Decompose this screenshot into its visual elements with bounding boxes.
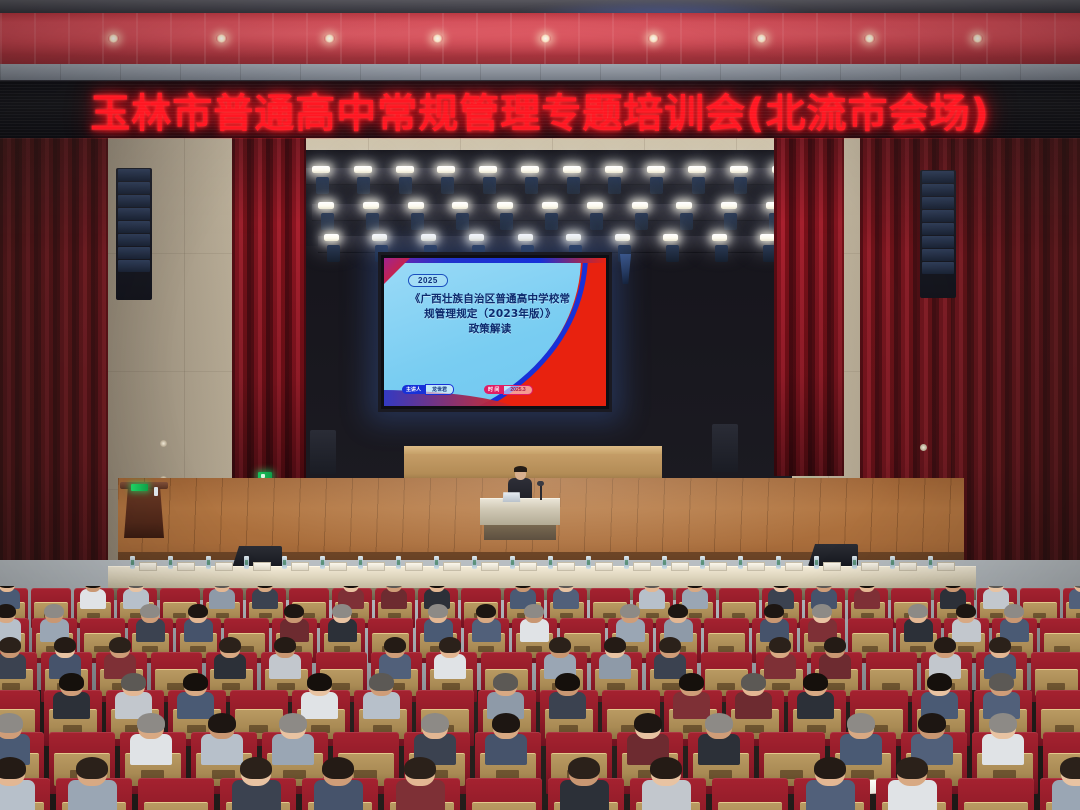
- audience-member-hair: [934, 637, 956, 653]
- seat-number-plate: [772, 683, 789, 690]
- audience-member-hair: [492, 713, 520, 733]
- audience-member-hair: [896, 757, 928, 779]
- audience-member-hair: [428, 604, 448, 618]
- seat-back: [964, 802, 1028, 810]
- line-array-speaker-left: [116, 168, 152, 300]
- stage-lamp: [712, 234, 727, 241]
- seat-number-plate: [827, 683, 844, 690]
- stage-lamp: [421, 234, 436, 241]
- seat-back: [718, 802, 782, 810]
- audience-member-hair: [918, 713, 946, 733]
- ceiling-downlight: [648, 34, 659, 43]
- audience-member-hair: [140, 604, 160, 618]
- laptop-icon: [503, 492, 521, 502]
- stage-lamp: [518, 234, 533, 241]
- audience-member-hair: [679, 673, 704, 691]
- audience-member-hair: [956, 604, 976, 618]
- stage-light-fixture: [715, 245, 728, 262]
- podium-water-bottle: [154, 487, 158, 496]
- seat-number-plate: [222, 683, 239, 690]
- seat-number-plate: [2, 683, 19, 690]
- audience-member-hair: [493, 673, 518, 691]
- audience-member-hair: [322, 757, 354, 779]
- stage-lamp: [688, 166, 706, 173]
- slide-top-bar: [384, 258, 606, 263]
- water-bottle: [130, 556, 135, 569]
- audience-member-hair: [188, 604, 208, 618]
- stage-lamp: [542, 202, 558, 209]
- audience-member-hair: [59, 673, 84, 691]
- stage-lamp: [354, 166, 372, 173]
- stage-lamp: [363, 202, 379, 209]
- seat-number-plate: [662, 683, 679, 690]
- stage-lamp: [452, 202, 468, 209]
- stage-light-fixture: [357, 177, 370, 194]
- water-bottle: [928, 556, 933, 569]
- seat-number-plate: [442, 683, 459, 690]
- slide-host-label: 主讲人: [402, 385, 425, 394]
- name-card: [557, 562, 575, 571]
- ceiling-downlight: [972, 34, 983, 43]
- audience-member-hair: [421, 713, 449, 733]
- audience-member-hair: [0, 757, 26, 779]
- water-bottle: [890, 556, 895, 569]
- name-card: [443, 562, 461, 571]
- stage-lamp: [730, 166, 748, 173]
- stage-lamp: [566, 234, 581, 241]
- stage-light-fixture: [441, 177, 454, 194]
- audience-member-hair: [44, 604, 64, 618]
- stage-lamp: [521, 166, 539, 173]
- slide-title-line-2: 规管理规定（2023年版）》: [394, 307, 586, 322]
- audience-member-hair: [121, 673, 146, 691]
- slide-title-line-1: 《广西壮族自治区普通高中学校常: [394, 292, 586, 307]
- stage-light-fixture: [525, 177, 538, 194]
- stage-lamp: [676, 202, 692, 209]
- name-card: [709, 562, 727, 571]
- water-bottle: [396, 556, 401, 569]
- audience-member-hair: [847, 713, 875, 733]
- audience-member-hair: [927, 673, 952, 691]
- water-bottle: [510, 556, 515, 569]
- stage-light-fixture: [567, 177, 580, 194]
- stage-light-fixture: [456, 213, 469, 230]
- audience-member-hair: [279, 713, 307, 733]
- ceiling-downlight: [756, 34, 767, 43]
- stage-light-fixture: [734, 177, 747, 194]
- seat: [712, 778, 788, 810]
- stage-lamp: [324, 234, 339, 241]
- water-bottle: [776, 556, 781, 569]
- audience-member-hair: [620, 604, 640, 618]
- name-card: [861, 562, 879, 571]
- stage-light-fixture: [666, 245, 679, 262]
- water-bottle: [244, 556, 249, 569]
- name-card: [367, 562, 385, 571]
- audience-member-hair: [604, 637, 626, 653]
- slide-time-tag: 时 间 2025.3: [484, 385, 533, 394]
- stage-light-fixture: [650, 177, 663, 194]
- name-card: [823, 562, 841, 571]
- name-card: [329, 562, 347, 571]
- audience-seating: [0, 586, 1080, 810]
- equipment-rack-right: [712, 424, 738, 472]
- stage-light-fixture: [411, 213, 424, 230]
- water-bottle: [320, 556, 325, 569]
- ceiling-downlight: [432, 34, 443, 43]
- audience-member-hair: [404, 757, 436, 779]
- stage-lamp: [647, 166, 665, 173]
- stage-light-fixture: [321, 213, 334, 230]
- water-bottle: [358, 556, 363, 569]
- stage-light-fixture: [680, 213, 693, 230]
- stage-light-fixture: [483, 177, 496, 194]
- slide-year-badge: 2025: [408, 274, 448, 287]
- presentation-slide: 2025 《广西壮族自治区普通高中学校常 规管理规定（2023年版）》 政策解读…: [384, 258, 606, 406]
- name-card: [177, 562, 195, 571]
- seat-number-plate: [882, 683, 899, 690]
- slide-host-tag: 主讲人 龙世君: [402, 385, 454, 394]
- led-banner: 玉林市普通高中常规管理专题培训会(北流市会场): [0, 80, 1080, 140]
- audience-member-hair: [384, 637, 406, 653]
- audience-member-hair: [439, 637, 461, 653]
- stage-light-fixture: [724, 213, 737, 230]
- audience-member-hair: [989, 637, 1011, 653]
- audience-member-hair: [0, 713, 23, 733]
- stage-lamp: [632, 202, 648, 209]
- stage-light-fixture: [327, 245, 340, 262]
- audience-member-hair: [764, 604, 784, 618]
- presenter-hair: [514, 466, 527, 472]
- water-bottle: [662, 556, 667, 569]
- name-card: [633, 562, 651, 571]
- microphone-icon: [537, 481, 544, 486]
- ceiling-downlight: [540, 34, 551, 43]
- audience-member-hair: [549, 637, 571, 653]
- audience-member-hair: [769, 637, 791, 653]
- stage-lamp: [721, 202, 737, 209]
- slide-time-label: 时 间: [484, 385, 503, 394]
- water-bottle: [434, 556, 439, 569]
- wall-fitting-right: [920, 444, 927, 451]
- stage-lamp: [615, 234, 630, 241]
- water-bottle: [206, 556, 211, 569]
- audience-member-hair: [1004, 604, 1024, 618]
- stage-lamp: [469, 234, 484, 241]
- water-bottle: [814, 556, 819, 569]
- stage-lamp: [497, 202, 513, 209]
- stage-lamp: [437, 166, 455, 173]
- audience-member-hair: [803, 673, 828, 691]
- stage-lamp: [312, 166, 330, 173]
- audience-member-hair: [183, 673, 208, 691]
- slide-time-value: 2025.3: [503, 385, 532, 395]
- name-card: [595, 562, 613, 571]
- name-card: [215, 562, 233, 571]
- stage-lamp: [605, 166, 623, 173]
- banner-text: 玉林市普通高中常规管理专题培训会(北流市会场): [90, 81, 990, 139]
- audience-member-hair: [208, 713, 236, 733]
- audience-member-hair: [634, 713, 662, 733]
- audience-member-hair: [741, 673, 766, 691]
- name-card: [937, 562, 955, 571]
- presenter-table: [480, 498, 560, 525]
- auditorium-photo: 玉林市普通高中常规管理专题培训会(北流市会场) 2025 《广西壮族自治区普通高…: [0, 0, 1080, 810]
- audience-member-hair: [555, 673, 580, 691]
- water-bottle: [738, 556, 743, 569]
- audience-member-hair: [659, 637, 681, 653]
- wall-fitting-left: [160, 440, 167, 447]
- stage-light-fixture: [635, 213, 648, 230]
- audience-member-hair: [240, 757, 272, 779]
- podium: [124, 486, 164, 538]
- audience-member-hair: [989, 713, 1017, 733]
- audience-member-hair: [568, 757, 600, 779]
- name-card: [291, 562, 309, 571]
- name-card: [785, 562, 803, 571]
- equipment-rack-left: [310, 430, 336, 474]
- stage-light-fixture: [399, 177, 412, 194]
- audience-member-hair: [705, 713, 733, 733]
- water-bottle: [586, 556, 591, 569]
- stage-light-fixture: [500, 213, 513, 230]
- water-bottle: [852, 556, 857, 569]
- stage-riser-top: [404, 446, 662, 454]
- audience-member-hair: [54, 637, 76, 653]
- lighting-truss: [306, 168, 782, 185]
- stage-lamp: [760, 234, 775, 241]
- led-screen: 2025 《广西壮族自治区普通高中学校常 规管理规定（2023年版）》 政策解读…: [378, 252, 612, 412]
- name-card: [519, 562, 537, 571]
- audience-member-hair: [1060, 757, 1080, 779]
- podium-display-icon: [131, 484, 148, 491]
- name-card: [139, 562, 157, 571]
- seat-number-plate: [277, 683, 294, 690]
- water-bottle: [624, 556, 629, 569]
- ceiling-downlight: [324, 34, 335, 43]
- seat-number-plate: [717, 683, 734, 690]
- seat-number-plate: [1047, 683, 1064, 690]
- audience-member-hair: [650, 757, 682, 779]
- line-array-speaker-right: [920, 170, 956, 298]
- audience-member-hair: [109, 637, 131, 653]
- stage-light-fixture: [545, 213, 558, 230]
- stage-lamp: [408, 202, 424, 209]
- stage-lamp: [479, 166, 497, 173]
- water-bottle: [700, 556, 705, 569]
- seat-back: [144, 802, 208, 810]
- stage-light-fixture: [366, 213, 379, 230]
- stage-lamp: [663, 234, 678, 241]
- ceiling-downlight: [216, 34, 227, 43]
- audience-member-hair: [76, 757, 108, 779]
- seat-number-plate: [332, 683, 349, 690]
- name-card: [671, 562, 689, 571]
- stage-lamp: [318, 202, 334, 209]
- presenter-table-skirt: [484, 524, 556, 540]
- ceiling-downlight: [864, 34, 875, 43]
- audience-member-hair: [219, 637, 241, 653]
- water-bottle: [168, 556, 173, 569]
- name-card: [253, 562, 271, 571]
- audience-member-hair: [668, 604, 688, 618]
- stage-light-fixture: [316, 177, 329, 194]
- audience-member-hair: [0, 637, 21, 653]
- stage-ceiling: [296, 150, 792, 246]
- stage-lamp: [563, 166, 581, 173]
- audience-member-hair: [307, 673, 332, 691]
- audience-member-hair: [908, 604, 928, 618]
- seat: [958, 778, 1034, 810]
- slide-title-line-3: 政策解读: [394, 322, 586, 337]
- audience-member-hair: [332, 604, 352, 618]
- seat-number-plate: [607, 683, 624, 690]
- seat-back: [472, 802, 536, 810]
- audience-member-hair: [989, 673, 1014, 691]
- audience-member-hair: [524, 604, 544, 618]
- audience-member-hair: [812, 604, 832, 618]
- audience-member-hair: [369, 673, 394, 691]
- stage-lamp: [372, 234, 387, 241]
- name-card: [747, 562, 765, 571]
- slide-title: 《广西壮族自治区普通高中学校常 规管理规定（2023年版）》 政策解读: [394, 292, 586, 337]
- seat: [466, 778, 542, 810]
- slide-host-value: 龙世君: [425, 384, 454, 395]
- audience-member-hair: [137, 713, 165, 733]
- stage-light-fixture: [590, 213, 603, 230]
- audience-member-hair: [476, 604, 496, 618]
- water-bottle: [472, 556, 477, 569]
- microphone-stand: [540, 484, 542, 500]
- name-card: [481, 562, 499, 571]
- audience-member-hair: [0, 604, 16, 618]
- ceiling-downlight: [108, 34, 119, 43]
- audience-member-hair: [814, 757, 846, 779]
- stage-lamp: [396, 166, 414, 173]
- seat: [138, 778, 214, 810]
- water-bottle: [548, 556, 553, 569]
- stage-lamp: [587, 202, 603, 209]
- audience-member-hair: [284, 604, 304, 618]
- stage-light-fixture: [608, 177, 621, 194]
- name-card: [899, 562, 917, 571]
- audience-member-hair: [274, 637, 296, 653]
- name-card: [405, 562, 423, 571]
- audience-member-hair: [824, 637, 846, 653]
- water-bottle: [282, 556, 287, 569]
- stage-light-fixture: [692, 177, 705, 194]
